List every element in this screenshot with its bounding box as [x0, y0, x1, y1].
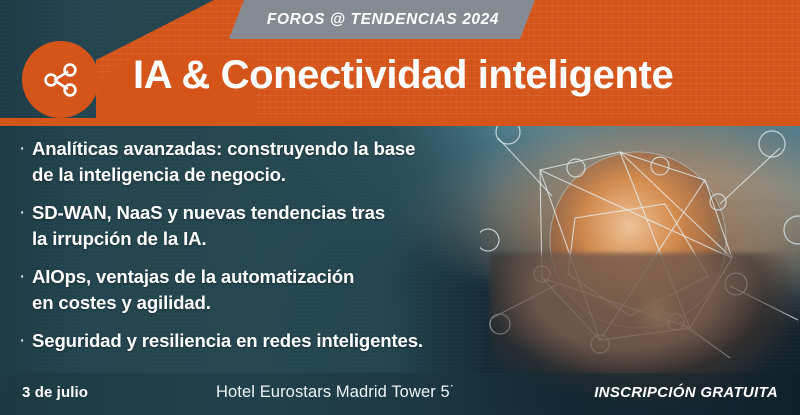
series-tab-label: FOROS @ TENDENCIAS 2024	[265, 11, 499, 29]
list-item-text: Analíticas avanzadas: construyendo la ba…	[32, 136, 415, 187]
event-venue: Hotel Eurostars Madrid Tower 5˙	[216, 383, 455, 402]
bullet-marker: ·	[19, 136, 32, 161]
list-item-text: SD-WAN, NaaS y nuevas tendencias tras la…	[32, 200, 385, 251]
list-item-line-2: en costes y agilidad.	[32, 292, 211, 313]
topics-list: · Analíticas avanzadas: construyendo la …	[19, 136, 564, 354]
list-item-line-2: de la inteligencia de negocio.	[32, 164, 286, 185]
list-item-line-2: la irrupción de la IA.	[32, 228, 206, 249]
series-tab: FOROS @ TENDENCIAS 2024	[229, 0, 535, 39]
list-item-line-1: AIOps, ventajas de la automatización	[32, 266, 354, 287]
list-item: · Analíticas avanzadas: construyendo la …	[19, 136, 564, 187]
list-item: · Seguridad y resiliencia en redes intel…	[19, 328, 564, 354]
list-item-text: Seguridad y resiliencia en redes intelig…	[32, 328, 423, 354]
list-item: · AIOps, ventajas de la automatización e…	[19, 264, 564, 315]
list-item: · SD-WAN, NaaS y nuevas tendencias tras …	[19, 200, 564, 251]
bullet-marker: ·	[19, 264, 32, 289]
bullet-marker: ·	[19, 200, 32, 225]
list-item-line-1: SD-WAN, NaaS y nuevas tendencias tras	[32, 202, 385, 223]
event-date: 3 de julio	[22, 384, 88, 401]
bullet-marker: ·	[19, 328, 32, 353]
share-nodes-icon	[41, 60, 81, 100]
header-bottom-band	[0, 118, 800, 126]
page-title: IA & Conectividad inteligente	[133, 45, 793, 105]
list-item-line-1: Seguridad y resiliencia en redes intelig…	[32, 330, 423, 351]
list-item-line-1: Analíticas avanzadas: construyendo la ba…	[32, 138, 415, 159]
registration-cta[interactable]: INSCRIPCIÓN GRATUITA	[594, 384, 778, 401]
event-promo-banner: FOROS @ TENDENCIAS 2024 IA & Conectivida…	[0, 0, 800, 415]
list-item-text: AIOps, ventajas de la automatización en …	[32, 264, 354, 315]
share-badge	[22, 41, 99, 118]
